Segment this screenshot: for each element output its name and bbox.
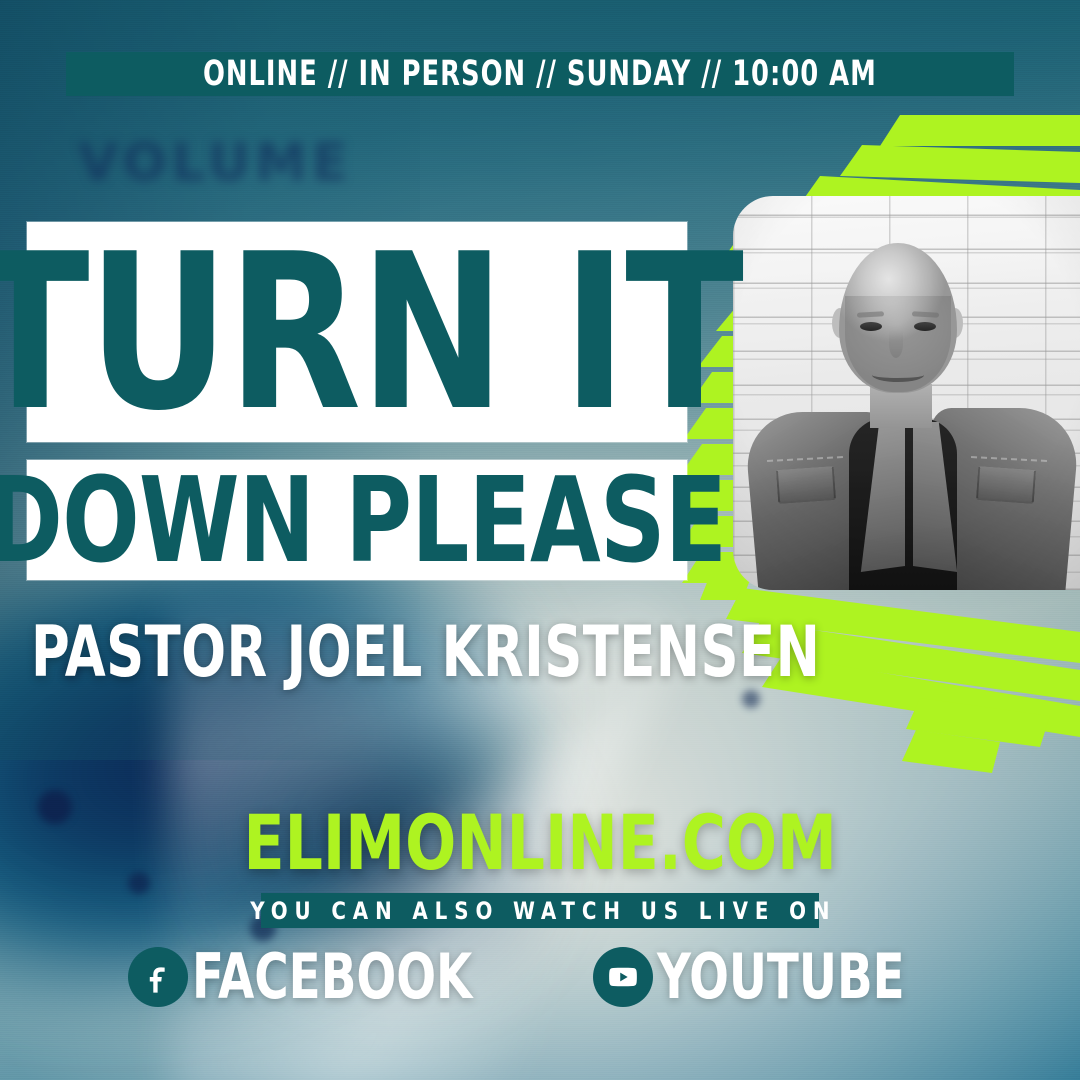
speaker-portrait bbox=[733, 196, 1080, 590]
portrait-vignette bbox=[733, 196, 1080, 590]
social-links-row: FACEBOOK YOUTUBE bbox=[0, 946, 1080, 1008]
service-times-text: ONLINE // IN PERSON // SUNDAY // 10:00 A… bbox=[203, 54, 877, 94]
social-link-youtube[interactable]: YOUTUBE bbox=[593, 946, 952, 1008]
headline-line-2-text: DOWN PLEASE bbox=[0, 461, 727, 579]
facebook-label: FACEBOOK bbox=[192, 946, 472, 1008]
watch-live-text: YOU CAN ALSO WATCH US LIVE ON bbox=[244, 897, 837, 925]
youtube-label: YOUTUBE bbox=[657, 946, 905, 1008]
promo-poster: VOLUME bbox=[0, 0, 1080, 1080]
social-link-facebook[interactable]: FACEBOOK bbox=[128, 946, 526, 1008]
headline-line-2-box: DOWN PLEASE bbox=[27, 460, 687, 580]
youtube-icon[interactable] bbox=[593, 947, 653, 1007]
facebook-icon[interactable] bbox=[128, 947, 188, 1007]
website-url-text: ELIMONLINE.COM bbox=[243, 805, 836, 881]
watch-live-bar: YOU CAN ALSO WATCH US LIVE ON bbox=[261, 893, 819, 928]
speaker-name: PASTOR JOEL KRISTENSEN bbox=[31, 617, 820, 687]
website-url[interactable]: ELIMONLINE.COM bbox=[0, 805, 1080, 881]
service-times-banner: ONLINE // IN PERSON // SUNDAY // 10:00 A… bbox=[66, 52, 1014, 96]
headline-line-1-box: TURN IT bbox=[27, 222, 687, 442]
headline-line-1-text: TURN IT bbox=[0, 225, 743, 440]
